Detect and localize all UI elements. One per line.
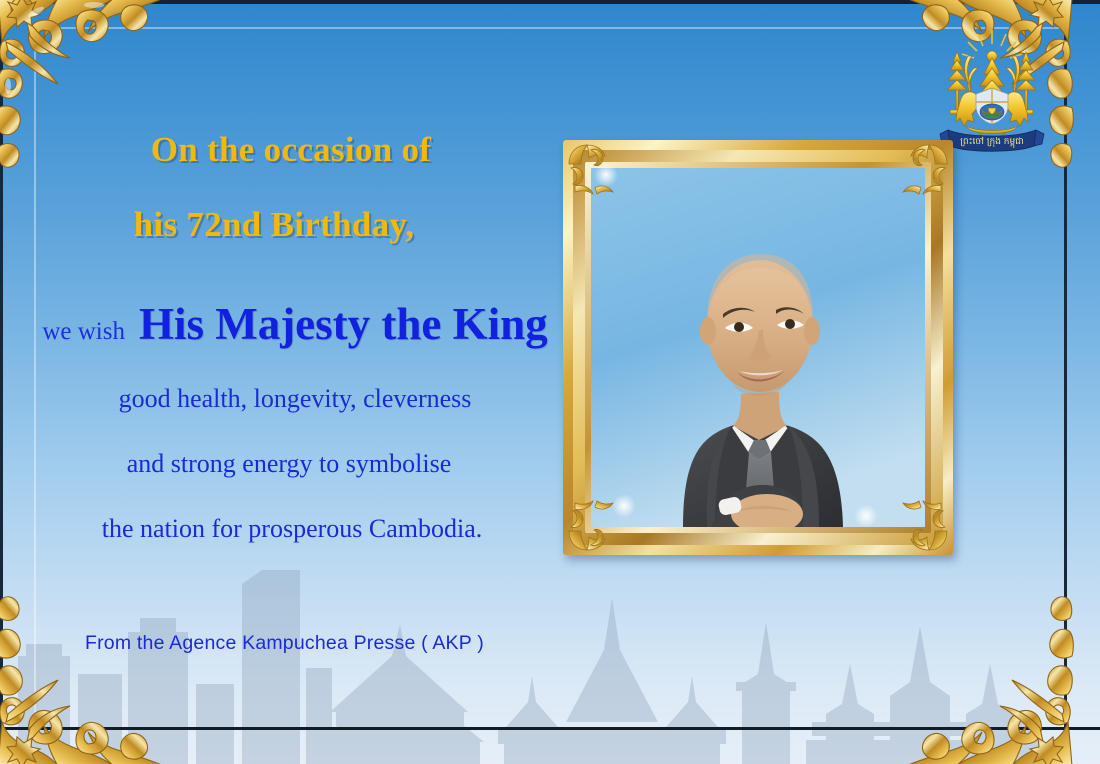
wish-row: we wish His Majesty the King (40, 302, 550, 347)
royal-coat-of-arms-icon: ព្រះចៅ ក្រុង កម្ពុជា (912, 22, 1072, 158)
skyline-silhouette (0, 564, 1100, 764)
blue-line-1: good health, longevity, cleverness (40, 386, 550, 412)
king-portrait-photo (591, 168, 925, 527)
border-left (0, 0, 3, 764)
frame-flourish-top-left-icon (565, 142, 621, 198)
portrait-frame (563, 140, 953, 555)
emblem-banner-text: ព្រះចៅ ក្រុង កម្ពុជា (960, 136, 1024, 148)
blue-line-2: and strong energy to symbolise (28, 451, 550, 477)
wish-subject: His Majesty the King (139, 302, 548, 347)
gold-line-1: On the occasion of (32, 132, 550, 169)
wish-prefix: we wish (42, 319, 125, 344)
frame-flourish-bottom-right-icon (895, 497, 951, 553)
inner-rule-top (34, 27, 1064, 29)
blue-line-3: the nation for prosperous Cambodia. (34, 516, 550, 542)
greeting-message: On the occasion of his 72nd Birthday, we… (40, 132, 550, 542)
birthday-greeting-card: ព្រះចៅ ក្រុង កម្ពុជា On the occasion of … (0, 0, 1100, 764)
border-bottom (0, 727, 1100, 730)
frame-flourish-bottom-left-icon (565, 497, 621, 553)
frame-flourish-top-right-icon (895, 142, 951, 198)
credit-line: From the Agence Kampuchea Presse ( AKP ) (85, 632, 484, 655)
border-top (0, 0, 1100, 4)
gold-line-2: his 72nd Birthday, (0, 207, 550, 244)
